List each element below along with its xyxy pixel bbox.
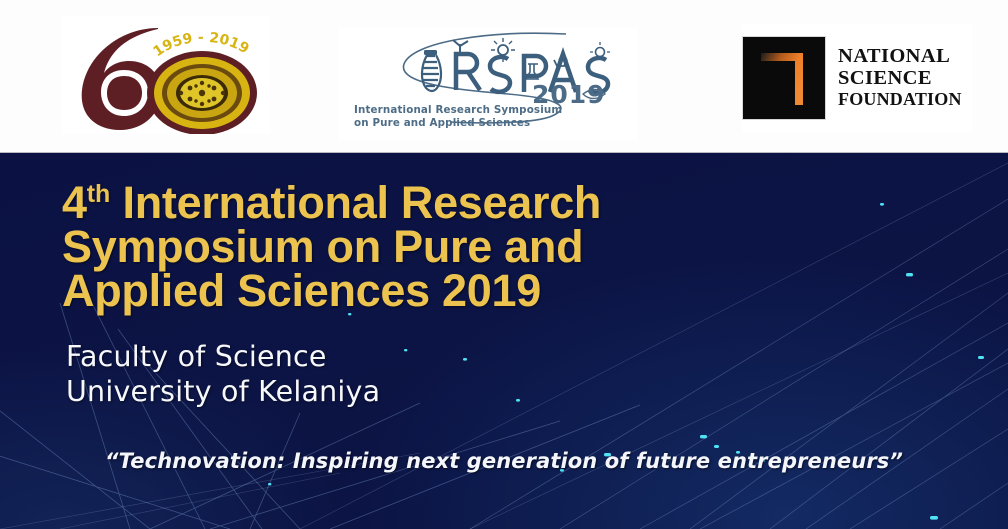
title-line-3: Applied Sciences 2019 (62, 269, 822, 313)
national-science-foundation-logo: NATIONAL SCIENCE FOUNDATION (742, 24, 972, 132)
symposium-tagline: “Technovation: Inspiring next generation… (0, 446, 1008, 477)
nsf-line-national: NATIONAL (838, 46, 962, 68)
irspas-subtitle-line1: International Research Symposium (354, 104, 574, 117)
title-hero-panel: 4th International Research Symposium on … (0, 153, 1008, 529)
nsf-wordmark: NATIONAL SCIENCE FOUNDATION (838, 46, 962, 111)
title-line-2: Symposium on Pure and (62, 225, 822, 269)
60th-anniversary-logo: 1959 - 2019 (62, 16, 270, 134)
nsf-line-science: SCIENCE (838, 68, 962, 90)
conference-title-slide: 1959 - 2019 (0, 0, 1008, 529)
affiliation-university: University of Kelaniya (66, 374, 380, 409)
title-line-1: 4th International Research (62, 181, 822, 225)
anniversary-logo-graphic: 1959 - 2019 (62, 16, 270, 134)
nsf-mark-icon (742, 36, 826, 120)
irspas-subtitle-line2: on Pure and Applied Sciences (354, 117, 574, 130)
nsf-angle-glyph (743, 37, 825, 119)
affiliation-faculty: Faculty of Science (66, 339, 380, 374)
page-title: 4th International Research Symposium on … (62, 181, 822, 313)
nsf-line-foundation: FOUNDATION (838, 89, 962, 111)
title-ordinal-suffix: th (87, 180, 111, 208)
irspas-logo: 2019 International Research Symposium on… (338, 28, 638, 140)
logo-header-band: 1959 - 2019 (0, 0, 1008, 153)
irspas-subtitle: International Research Symposium on Pure… (354, 104, 574, 129)
affiliation-block: Faculty of Science University of Kelaniy… (66, 339, 380, 409)
